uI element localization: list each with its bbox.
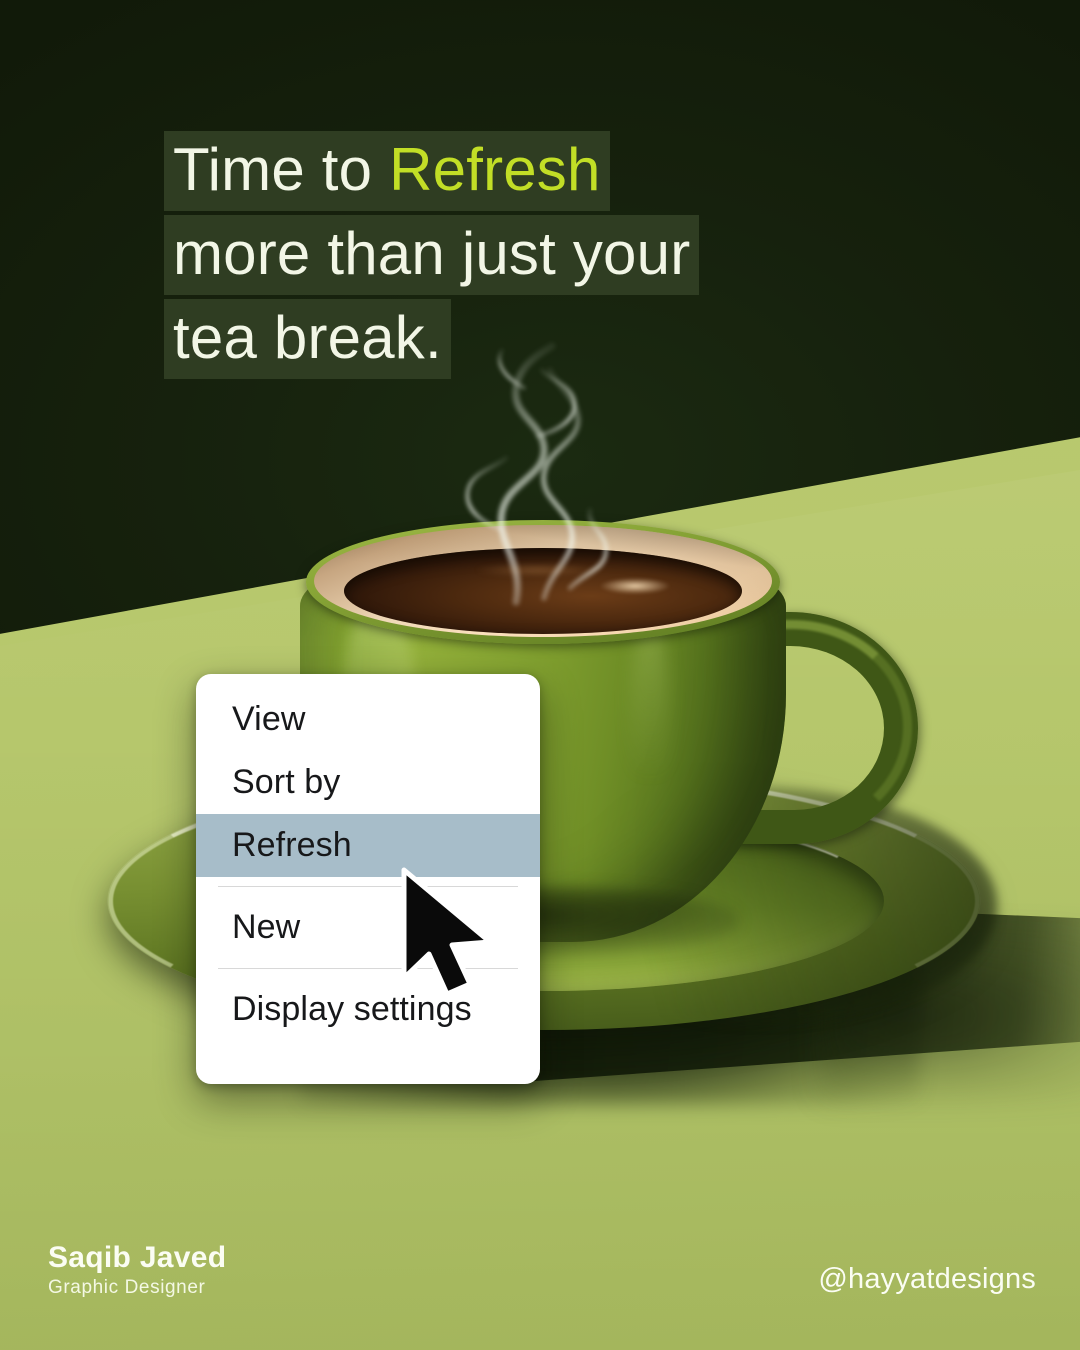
context-menu-item-view[interactable]: View [196, 688, 540, 751]
credit-role: Graphic Designer [48, 1277, 226, 1299]
arrow-pointer-icon[interactable] [398, 866, 514, 998]
context-menu-item-sort-by[interactable]: Sort by [196, 751, 540, 814]
context-menu-item-label: Refresh [232, 826, 352, 865]
credit-name: Saqib Javed [48, 1241, 226, 1275]
headline-line-2: more than just your [164, 215, 924, 295]
poster-canvas: Time to Refresh more than just your tea … [0, 0, 1080, 1350]
social-handle: @hayyatdesigns [818, 1263, 1036, 1296]
context-menu-item-label: Sort by [232, 763, 340, 802]
headline-line-1: Time to Refresh [164, 131, 924, 211]
cup-gloss-right [630, 612, 670, 822]
context-menu-item-label: New [232, 908, 300, 947]
context-menu-item-label: View [232, 700, 305, 739]
headline-line-3: tea break. [164, 299, 924, 379]
page-title: Time to Refresh more than just your tea … [164, 131, 924, 383]
credit-block: Saqib Javed Graphic Designer [48, 1241, 226, 1299]
headline-line-1-prefix: Time to [173, 136, 389, 203]
headline-accent-word: Refresh [389, 136, 601, 203]
